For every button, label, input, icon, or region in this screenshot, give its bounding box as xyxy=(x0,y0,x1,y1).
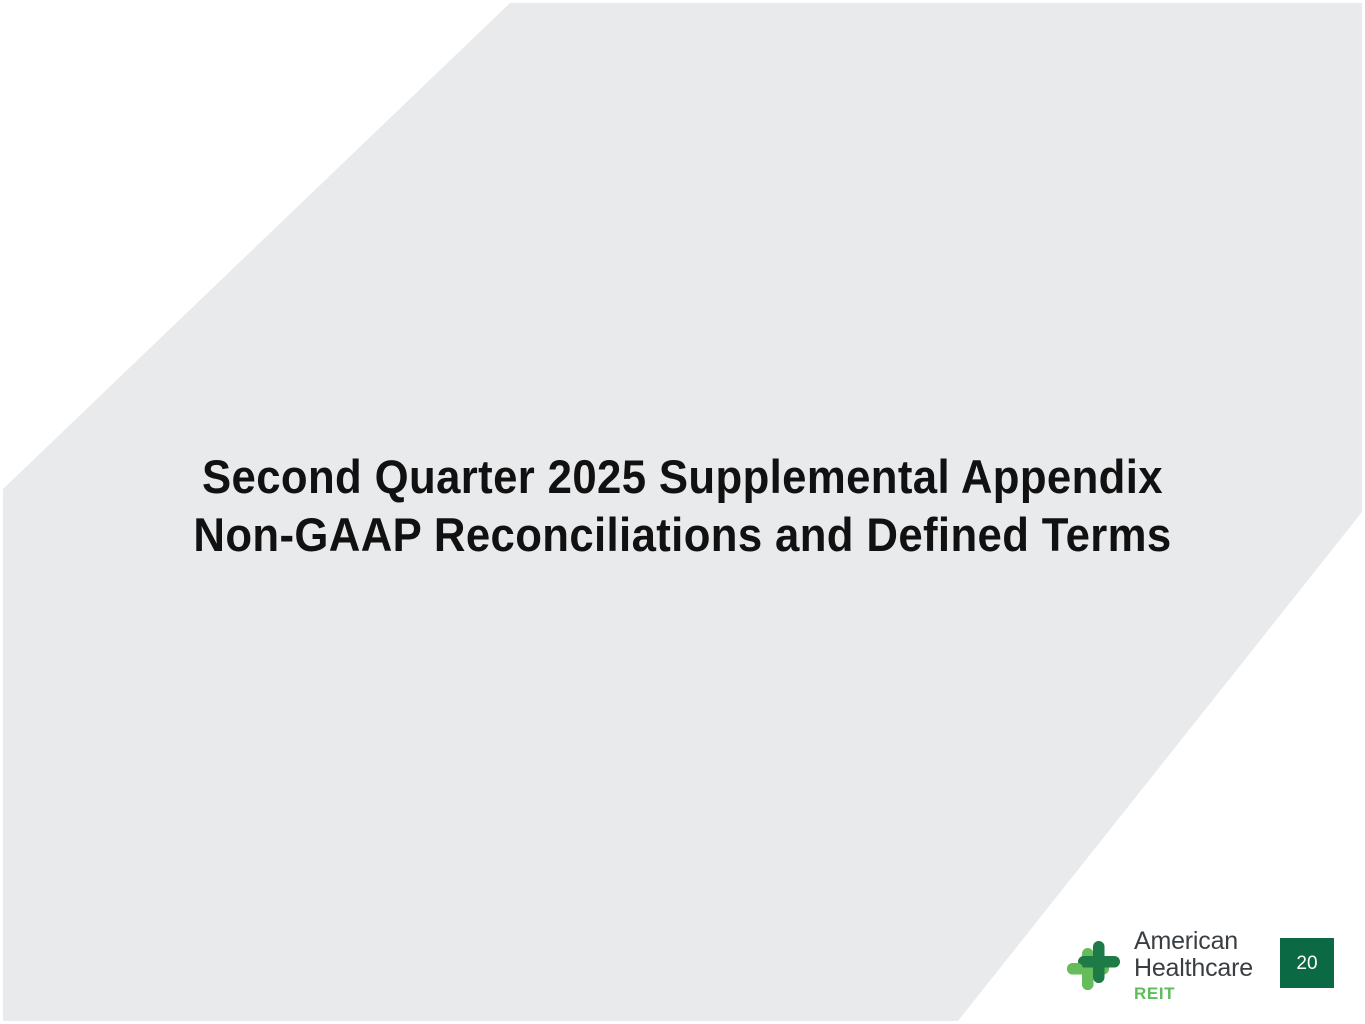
wordmark-subtitle-reit: REIT xyxy=(1134,984,1253,1004)
title-line-2: Non-GAAP Reconciliations and Defined Ter… xyxy=(85,506,1280,564)
wordmark-line-1: American xyxy=(1134,928,1253,955)
title-line-1: Second Quarter 2025 Supplemental Appendi… xyxy=(85,448,1280,506)
wordmark-line-2: Healthcare xyxy=(1134,955,1253,982)
brand-wordmark: American Healthcare REIT xyxy=(1134,928,1253,1004)
page-number-label: 20 xyxy=(1296,954,1317,973)
slide-title: Second Quarter 2025 Supplemental Appendi… xyxy=(0,448,1365,564)
slide-canvas: Second Quarter 2025 Supplemental Appendi… xyxy=(0,0,1365,1024)
brand-logo-lockup: American Healthcare REIT xyxy=(1062,928,1253,1004)
american-healthcare-cross-logo-icon xyxy=(1062,932,1124,1000)
page-number-badge: 20 xyxy=(1280,938,1334,988)
